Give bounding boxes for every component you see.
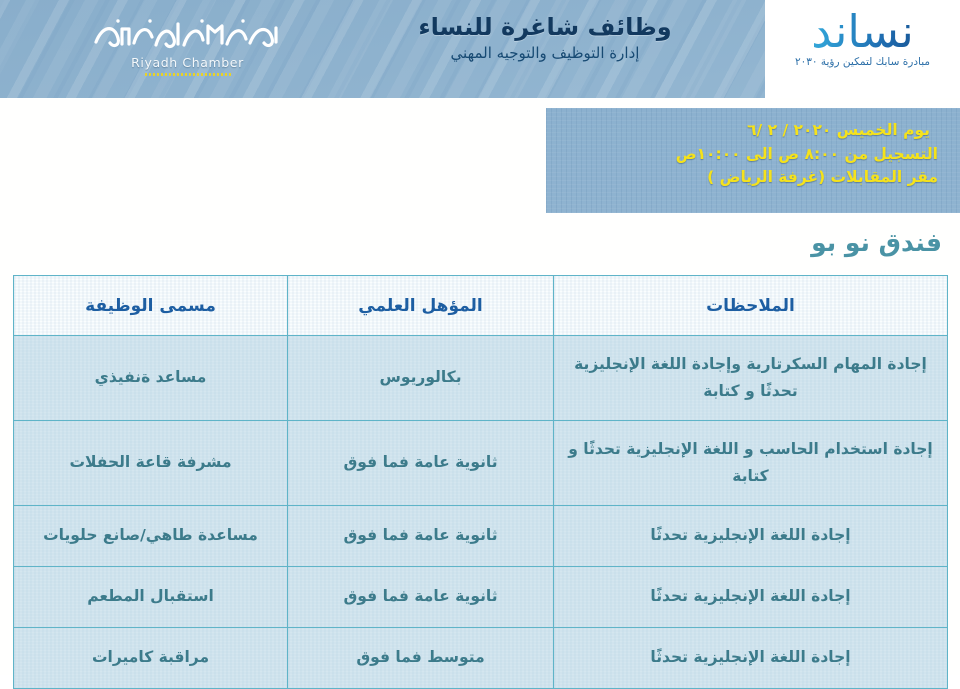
table-row: إجادة المهام السكرتارية وإجادة اللغة الإ… <box>14 336 948 421</box>
event-info-box: يوم الخميس ٢٠٢٠ / ٢ /٦ التسجيل من ٨:٠٠ ص… <box>546 108 960 213</box>
column-header-notes: الملاحظات <box>554 276 948 336</box>
cell-qualification: ثانوية عامة فما فوق <box>288 506 554 567</box>
cell-qualification: ثانوية عامة فما فوق <box>288 567 554 628</box>
table-row: إجادة اللغة الإنجليزية تحدثًا ثانوية عام… <box>14 506 948 567</box>
table-row: إجادة اللغة الإنجليزية تحدثًا ثانوية عام… <box>14 567 948 628</box>
cell-qualification: متوسط فما فوق <box>288 628 554 689</box>
nasaned-logo: نساند مبادرة سابك لتمكين رؤية ٢٠٣٠ <box>775 8 950 68</box>
event-date-line: يوم الخميس ٢٠٢٠ / ٢ /٦ <box>560 119 938 143</box>
cell-job-title: مشرفة قاعة الحفلات <box>14 421 288 506</box>
cell-qualification: بكالوريوس <box>288 336 554 421</box>
cell-qualification: ثانوية عامة فما فوق <box>288 421 554 506</box>
nasaned-wordmark: نساند <box>775 8 950 55</box>
table-header: الملاحظات المؤهل العلمي مسمى الوظيفة <box>14 276 948 336</box>
cell-notes: إجادة اللغة الإنجليزية تحدثًا <box>554 567 948 628</box>
table-row: إجادة استخدام الحاسب و اللغة الإنجليزية … <box>14 421 948 506</box>
nasaned-tagline: مبادرة سابك لتمكين رؤية ٢٠٣٠ <box>775 56 950 68</box>
page-header: وظائف شاغرة للنساء إدارة التوظيف والتوجي… <box>0 0 960 98</box>
table-body: إجادة المهام السكرتارية وإجادة اللغة الإ… <box>14 336 948 689</box>
header-banner-band: وظائف شاغرة للنساء إدارة التوظيف والتوجي… <box>0 0 765 98</box>
banner-title: وظائف شاغرة للنساء <box>380 13 710 42</box>
brand-logo-area: نساند مبادرة سابك لتمكين رؤية ٢٠٣٠ <box>765 0 960 98</box>
cell-job-title: مساعد ةنفيذي <box>14 336 288 421</box>
chamber-arabic-calligraphy-icon <box>80 12 295 54</box>
chamber-latin-name: Riyadh Chamber <box>80 55 295 70</box>
table-header-row: الملاحظات المؤهل العلمي مسمى الوظيفة <box>14 276 948 336</box>
cell-job-title: استقبال المطعم <box>14 567 288 628</box>
event-venue-line: مقر المقابلات (غرفة الرياض ) <box>560 166 938 190</box>
banner-subtitle: إدارة التوظيف والتوجيه المهني <box>380 43 710 63</box>
banner-text-block: وظائف شاغرة للنساء إدارة التوظيف والتوجي… <box>380 13 710 63</box>
column-header-job-title: مسمى الوظيفة <box>14 276 288 336</box>
event-registration-line: التسجيل من ٨:٠٠ ص الى ١٠:٠٠ص <box>560 143 938 167</box>
cell-notes: إجادة اللغة الإنجليزية تحدثًا <box>554 628 948 689</box>
cell-notes: إجادة اللغة الإنجليزية تحدثًا <box>554 506 948 567</box>
cell-job-title: مراقبة كاميرات <box>14 628 288 689</box>
cell-job-title: مساعدة طاهي/صانع حلويات <box>14 506 288 567</box>
riyadh-chamber-logo: Riyadh Chamber <box>80 12 295 76</box>
chamber-gold-rule <box>145 73 231 76</box>
vacancies-table: الملاحظات المؤهل العلمي مسمى الوظيفة إجا… <box>13 275 948 689</box>
cell-notes: إجادة المهام السكرتارية وإجادة اللغة الإ… <box>554 336 948 421</box>
company-name-heading: فندق نو بو <box>811 228 942 257</box>
column-header-qualification: المؤهل العلمي <box>288 276 554 336</box>
cell-notes: إجادة استخدام الحاسب و اللغة الإنجليزية … <box>554 421 948 506</box>
table-row: إجادة اللغة الإنجليزية تحدثًا متوسط فما … <box>14 628 948 689</box>
